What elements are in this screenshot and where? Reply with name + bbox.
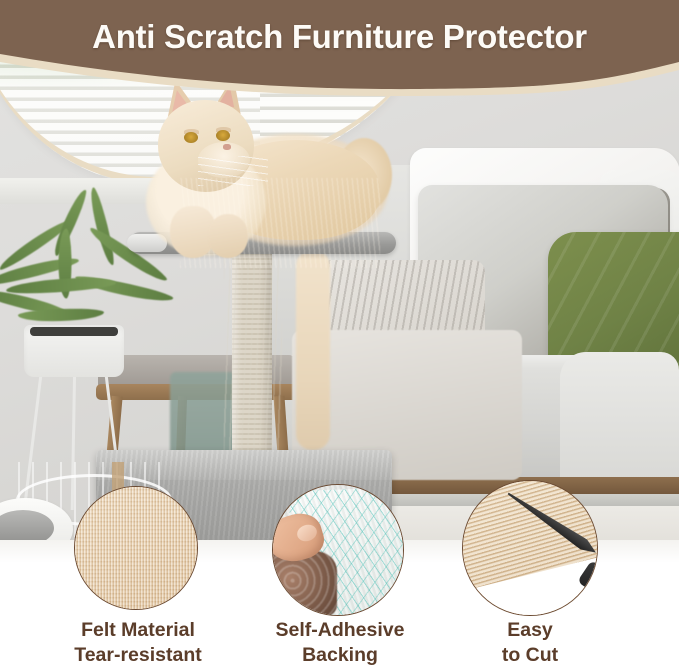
caption-felt-material: Felt Material Tear-resistant [24, 618, 252, 665]
header-band: Anti Scratch Furniture Protector [0, 0, 679, 96]
feature-inset-easy-to-cut [462, 480, 598, 616]
cat-eye-right [216, 130, 230, 141]
caption-easy-to-cut: Easy to Cut [446, 618, 614, 665]
cat [150, 78, 380, 268]
cat-nose [223, 144, 231, 150]
cat-eye-left [184, 132, 198, 143]
feature-inset-self-adhesive-backing [272, 484, 404, 616]
caption-line-2: Backing [240, 643, 440, 665]
caption-line-2: Tear-resistant [24, 643, 252, 665]
caption-line-1: Self-Adhesive [240, 618, 440, 643]
sisal-fray [224, 258, 282, 458]
sofa-seat-right [560, 352, 679, 487]
feature-captions: Felt Material Tear-resistant Self-Adhesi… [0, 608, 679, 665]
page-title: Anti Scratch Furniture Protector [0, 18, 679, 56]
corrugated-felt-icon [463, 481, 597, 615]
product-marketing-image: Anti Scratch Furniture Protector Felt Ma… [0, 0, 679, 665]
adhesive-backing-icon [273, 485, 403, 615]
caption-line-2: to Cut [446, 643, 614, 665]
caption-self-adhesive-backing: Self-Adhesive Backing [240, 618, 440, 665]
caption-line-1: Felt Material [24, 618, 252, 643]
peeled-foil [272, 551, 337, 616]
feature-inset-felt-material [74, 486, 198, 610]
cat-paw-second [208, 214, 248, 258]
cat-tail [296, 250, 330, 450]
felt-texture-icon [75, 487, 197, 609]
caption-line-1: Easy [446, 618, 614, 643]
